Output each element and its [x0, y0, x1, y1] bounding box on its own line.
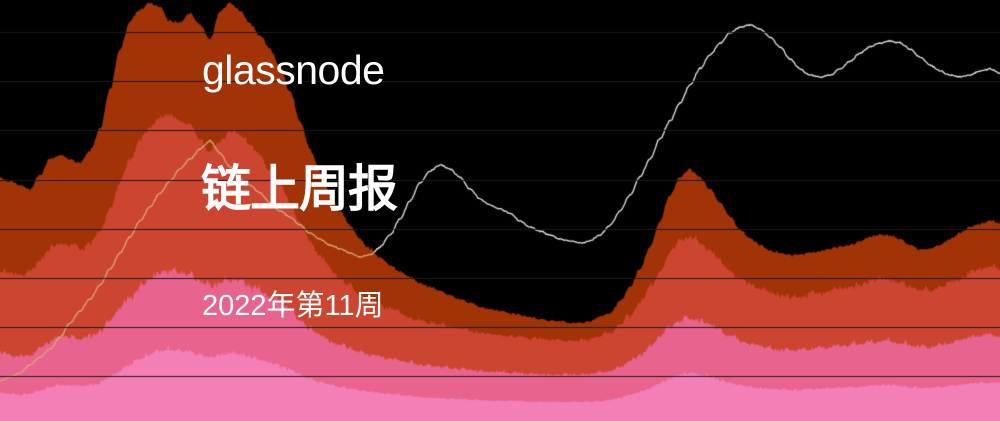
glassnode-logo: glassnode [202, 50, 384, 91]
weekly-report-title-card: glassnode 链上周报 2022年第11周 [0, 0, 1000, 421]
page-title: 链上周报 [201, 162, 397, 217]
page-subtitle: 2022年第11周 [202, 291, 384, 323]
title-overlay: glassnode 链上周报 2022年第11周 [0, 0, 1000, 421]
